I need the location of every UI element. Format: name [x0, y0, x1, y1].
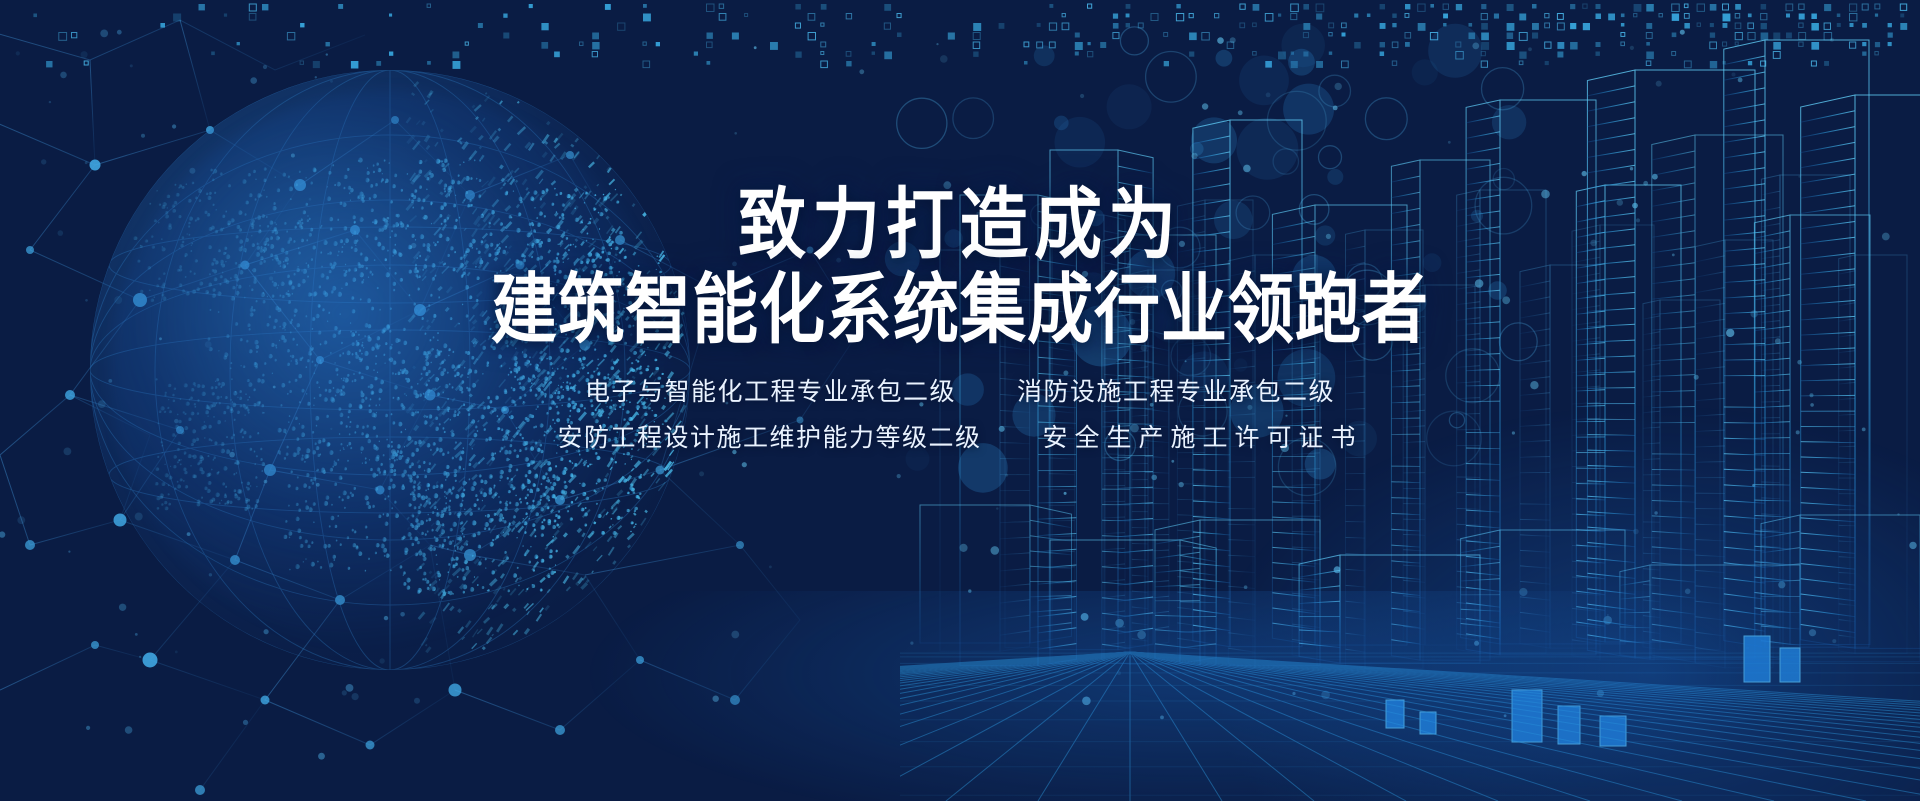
headline-line-1: 致力打造成为	[0, 186, 1920, 265]
qualification-1-left: 电子与智能化工程专业承包二级	[585, 378, 956, 406]
qualification-row-1: 电子与智能化工程专业承包二级 消防设施工程专业承包二级	[0, 369, 1920, 415]
qualification-row-2: 安防工程设计施工维护能力等级二级 安全生产施工许可证书	[0, 415, 1920, 461]
hero-banner: 致力打造成为 建筑智能化系统集成行业领跑者 电子与智能化工程专业承包二级 消防设…	[0, 0, 1920, 801]
headline: 致力打造成为 建筑智能化系统集成行业领跑者	[0, 186, 1920, 339]
ground-glow	[0, 591, 1920, 801]
qualification-2-right: 安全生产施工许可证书	[1042, 424, 1362, 452]
qualification-1-right: 消防设施工程专业承包二级	[1017, 378, 1335, 406]
hero-text-block: 致力打造成为 建筑智能化系统集成行业领跑者 电子与智能化工程专业承包二级 消防设…	[0, 186, 1920, 461]
qualification-2-left: 安防工程设计施工维护能力等级二级	[558, 424, 982, 452]
headline-line-2: 建筑智能化系统集成行业领跑者	[0, 271, 1920, 349]
qualification-list: 电子与智能化工程专业承包二级 消防设施工程专业承包二级 安防工程设计施工维护能力…	[0, 369, 1920, 462]
